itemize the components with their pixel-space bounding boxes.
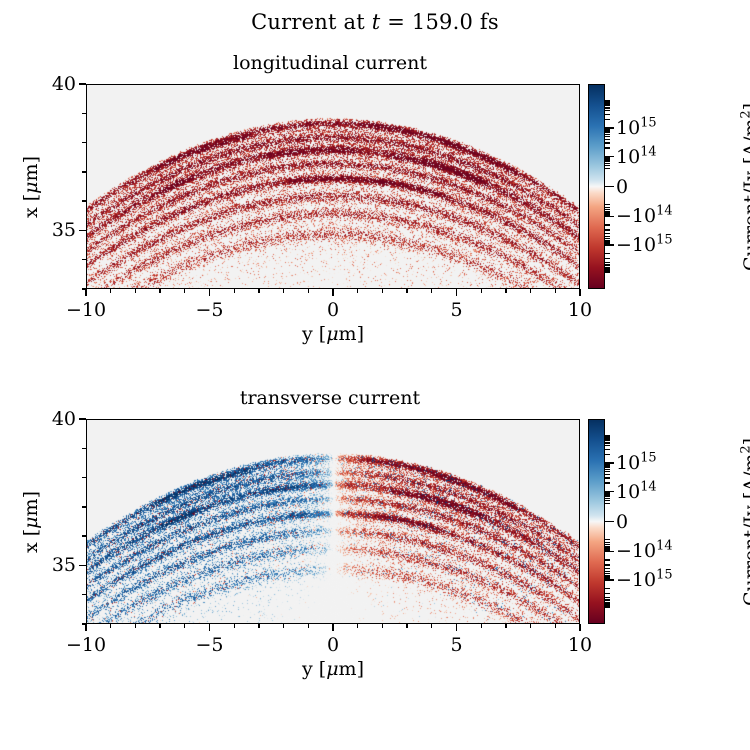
x-major-tick [456,289,457,296]
x-minor-tick [234,289,235,293]
colorbar-minor-tick [605,454,610,455]
x-minor-tick [406,289,407,293]
colorbar-minor-tick [605,539,610,540]
colorbar-minor-tick [605,204,610,205]
colorbar-major-tick [605,244,614,245]
colorbar-major-tick [605,186,614,187]
colorbar-major-tick [605,521,614,522]
colorbar-minor-tick [605,597,610,598]
x-tick-label: −5 [195,634,223,656]
colorbar-minor-tick [605,139,610,140]
colorbar-minor-tick [605,114,610,115]
x-axis-label-longitudinal: y [μm] [86,323,580,345]
x-major-tick [579,624,580,631]
x-tick-label: 10 [568,299,592,321]
colorbar-minor-tick [605,233,610,234]
x-minor-tick [234,624,235,628]
x-minor-tick [308,289,309,293]
colorbar-minor-tick [605,107,610,108]
colorbar-minor-tick [605,157,610,158]
panel-title-transverse: transverse current [80,387,580,409]
x-major-tick [85,624,86,631]
x-minor-tick [505,289,506,293]
colorbar-minor-tick [605,136,610,137]
colorbar-tick-label: 1014 [616,481,657,503]
y-minor-tick [82,623,86,624]
colorbar-minor-tick [605,465,610,466]
x-major-tick [332,624,333,631]
x-tick-label: −5 [195,299,223,321]
x-minor-tick [184,624,185,628]
x-minor-tick [159,289,160,293]
y-tick-label: 40 [26,408,76,430]
y-minor-tick [82,535,86,536]
x-minor-tick [357,289,358,293]
colorbar-major-tick [605,579,614,580]
y-major-tick [79,83,86,84]
colorbar-minor-tick [605,482,610,483]
x-tick-label: 0 [327,634,339,656]
colorbar-minor-tick [605,550,610,551]
colorbar-minor-tick [605,132,610,133]
colorbar-minor-tick [605,215,610,216]
panel-title-longitudinal: longitudinal current [80,52,580,74]
plot-area-transverse[interactable] [86,419,580,624]
y-axis-label-transverse: x [μm] [20,462,42,582]
x-tick-label: −10 [66,299,106,321]
colorbar-minor-tick [605,467,610,468]
x-minor-tick [406,624,407,628]
current-density-map-transverse [87,420,580,624]
x-minor-tick [258,289,259,293]
colorbar-minor-tick [605,571,610,572]
colorbar-minor-tick [605,110,610,111]
x-tick-label: −10 [66,634,106,656]
x-axis-label-transverse: y [μm] [86,658,580,680]
suptitle-equation: = 159.0 fs [380,10,499,34]
colorbar-tick-label: 0 [616,176,628,198]
colorbar-minor-tick [605,258,610,259]
colorbar-minor-tick [605,496,610,497]
x-major-tick [209,624,210,631]
colorbar-minor-tick [605,492,610,493]
colorbar-minor-tick [605,498,610,499]
colorbar-minor-tick [605,130,610,131]
x-tick-label: 5 [450,634,462,656]
x-minor-tick [258,624,259,628]
colorbar-minor-tick [605,101,610,102]
colorbar-tick-label: 1014 [616,146,657,168]
y-major-tick [79,418,86,419]
y-minor-tick [82,506,86,507]
colorbar-tick-label: −1015 [616,569,673,591]
x-minor-tick [382,624,383,628]
y-minor-tick [82,113,86,114]
colorbar-minor-tick [605,593,610,594]
current-density-map-longitudinal [87,85,580,289]
colorbar-minor-tick [605,559,610,560]
colorbar-minor-tick [605,564,610,565]
x-tick-label: 0 [327,299,339,321]
x-minor-tick [505,624,506,628]
colorbar-minor-tick [605,500,610,501]
x-minor-tick [283,289,284,293]
colorbar-longitudinal[interactable] [588,84,605,289]
colorbar-gradient-transverse [589,420,604,623]
x-minor-tick [481,289,482,293]
suptitle-prefix: Current at [251,10,372,34]
colorbar-minor-tick [605,224,610,225]
y-minor-tick [82,142,86,143]
x-major-tick [332,289,333,296]
colorbar-minor-tick [605,161,610,162]
x-minor-tick [159,624,160,628]
x-minor-tick [283,624,284,628]
colorbar-minor-tick [605,105,610,106]
colorbar-minor-tick [605,253,610,254]
x-minor-tick [308,624,309,628]
colorbar-gradient-longitudinal [589,85,604,288]
colorbar-minor-tick [605,438,610,439]
colorbar-minor-tick [605,440,610,441]
x-minor-tick [382,289,383,293]
colorbar-title-transverse: Current/Jy [A/m2] [740,397,750,647]
x-minor-tick [555,624,556,628]
colorbar-minor-tick [605,264,610,265]
y-tick-label: 40 [26,73,76,95]
x-minor-tick [530,289,531,293]
colorbar-minor-tick [605,165,610,166]
colorbar-tick-label: 1015 [616,452,657,474]
colorbar-minor-tick [605,103,610,104]
y-minor-tick [82,448,86,449]
colorbar-minor-tick [605,168,610,169]
colorbar-minor-tick [605,599,610,600]
x-major-tick [579,289,580,296]
y-minor-tick [82,477,86,478]
x-tick-label: 10 [568,634,592,656]
colorbar-minor-tick [605,607,610,608]
colorbar-transverse[interactable] [588,419,605,624]
colorbar-minor-tick [605,442,610,443]
colorbar-tick-label: −1014 [616,205,673,227]
y-axis-label-longitudinal: x [μm] [20,127,42,247]
x-minor-tick [431,289,432,293]
colorbar-minor-tick [605,474,610,475]
x-minor-tick [481,624,482,628]
colorbar-minor-tick [605,469,610,470]
x-minor-tick [135,624,136,628]
x-minor-tick [431,624,432,628]
colorbar-minor-tick [605,503,610,504]
colorbar-minor-tick [605,449,610,450]
x-minor-tick [555,289,556,293]
colorbar-minor-tick [605,272,610,273]
x-tick-label: 5 [450,299,462,321]
x-minor-tick [184,289,185,293]
plot-area-longitudinal[interactable] [86,84,580,289]
x-minor-tick [135,289,136,293]
x-minor-tick [530,624,531,628]
colorbar-minor-tick [605,142,610,143]
y-minor-tick [82,200,86,201]
colorbar-minor-tick [605,578,610,579]
colorbar-minor-tick [605,134,610,135]
x-minor-tick [110,289,111,293]
colorbar-minor-tick [605,588,610,589]
colorbar-minor-tick [605,445,610,446]
colorbar-minor-tick [605,464,610,465]
colorbar-minor-tick [605,477,610,478]
x-major-tick [85,289,86,296]
colorbar-tick-label: −1014 [616,540,673,562]
y-minor-tick [82,288,86,289]
colorbar-tick-label: −1015 [616,234,673,256]
colorbar-minor-tick [605,436,610,437]
colorbar-minor-tick [605,100,610,101]
y-minor-tick [82,171,86,172]
colorbar-minor-tick [605,471,610,472]
colorbar-minor-tick [605,229,610,230]
colorbar-minor-tick [605,163,610,164]
colorbar-minor-tick [605,147,610,148]
y-major-tick [79,230,86,231]
colorbar-minor-tick [605,129,610,130]
colorbar-minor-tick [605,435,610,436]
x-minor-tick [110,624,111,628]
figure-root: Current at t = 159.0 fs longitudinal cur… [0,0,750,750]
y-minor-tick [82,259,86,260]
colorbar-minor-tick [605,236,610,237]
figure-suptitle: Current at t = 159.0 fs [0,10,750,34]
colorbar-title-longitudinal: Current/Jx [A/m2] [740,62,750,312]
colorbar-minor-tick [605,243,610,244]
y-minor-tick [82,594,86,595]
colorbar-minor-tick [605,119,610,120]
y-major-tick [79,565,86,566]
colorbar-tick-label: 0 [616,511,628,533]
x-major-tick [456,624,457,631]
colorbar-tick-label: 1015 [616,117,657,139]
x-minor-tick [357,624,358,628]
x-major-tick [209,289,210,296]
colorbar-minor-tick [605,262,610,263]
colorbar-minor-tick [605,568,610,569]
